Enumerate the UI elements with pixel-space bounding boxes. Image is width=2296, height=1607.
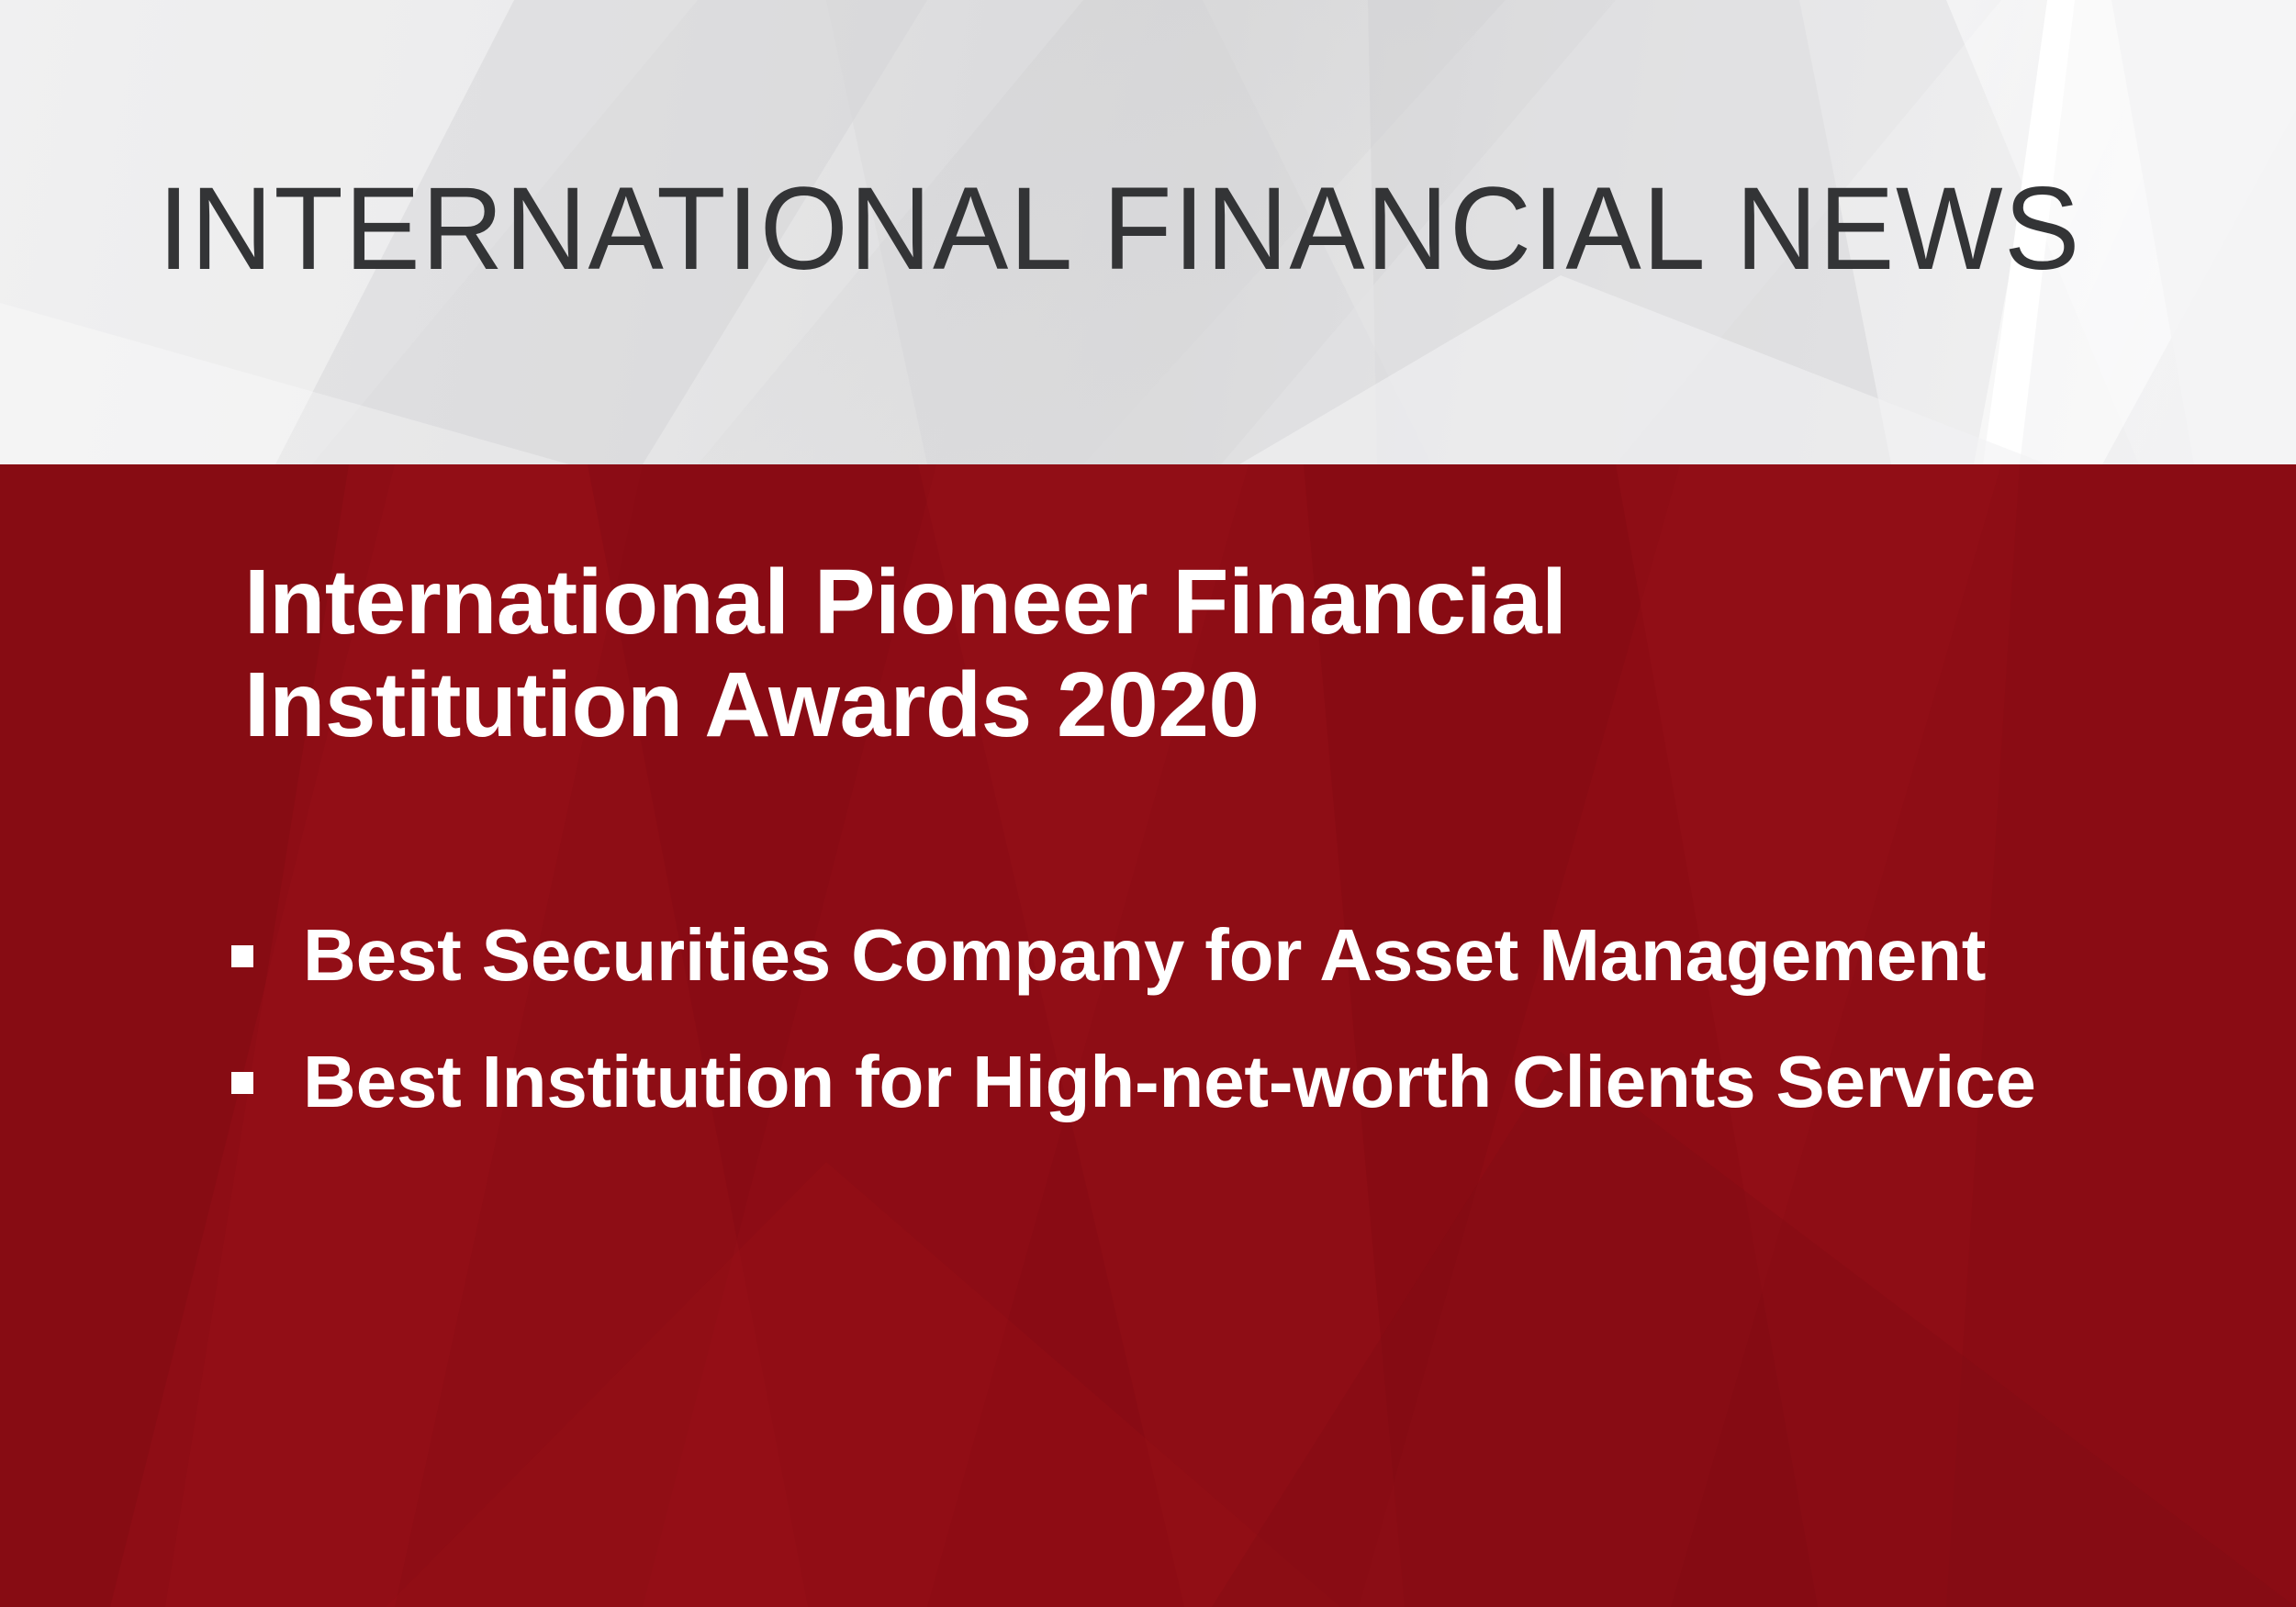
- award-heading: International Pioneer Financial Institut…: [244, 551, 1988, 756]
- header-band: INTERNATIONAL FINANCIAL NEWS: [0, 0, 2296, 464]
- award-item-label: Best Securities Company for Asset Manage…: [303, 914, 1986, 996]
- award-heading-line-2: Institution Awards 2020: [244, 653, 1988, 756]
- award-item-label: Best Institution for High-net-worth Clie…: [303, 1041, 2036, 1122]
- square-bullet-icon: [231, 945, 253, 967]
- page-title: INTERNATIONAL FINANCIAL NEWS: [158, 171, 2081, 288]
- list-item: Best Institution for High-net-worth Clie…: [228, 1037, 2247, 1127]
- square-bullet-icon: [231, 1072, 253, 1094]
- news-award-slide: INTERNATIONAL FINANCIAL NEWS Internation…: [0, 0, 2296, 1607]
- list-item: Best Securities Company for Asset Manage…: [228, 910, 2247, 1000]
- award-heading-line-1: International Pioneer Financial: [244, 551, 1988, 653]
- award-banner: International Pioneer Financial Institut…: [0, 464, 2296, 1607]
- award-list: Best Securities Company for Asset Manage…: [228, 910, 2247, 1126]
- banner-content: International Pioneer Financial Institut…: [0, 464, 2296, 1607]
